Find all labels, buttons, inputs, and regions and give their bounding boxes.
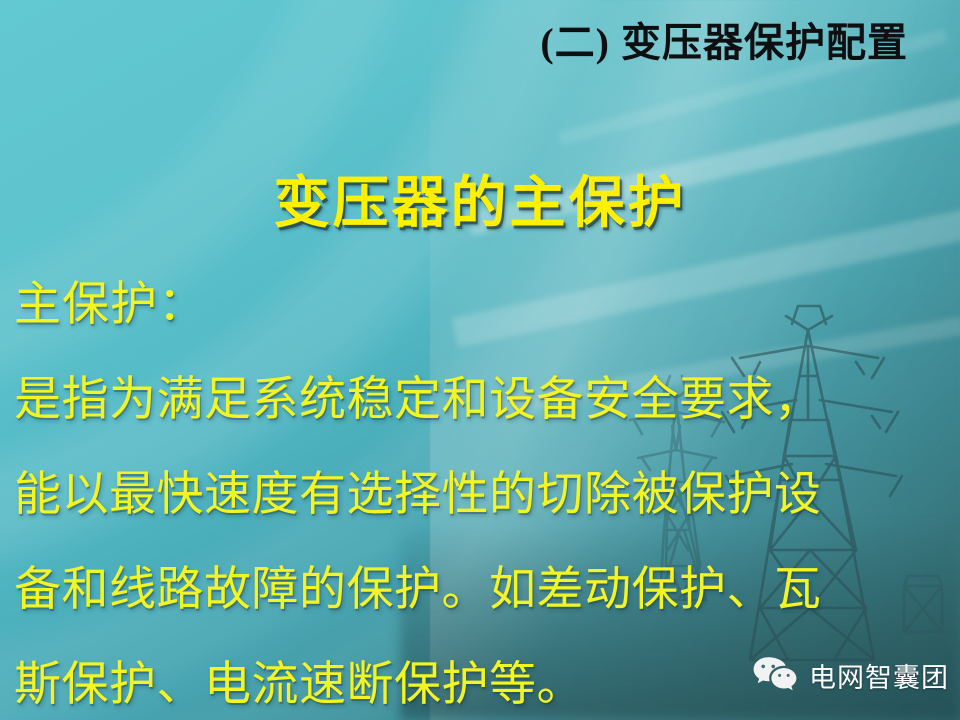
watermark-label: 电网智囊团 bbox=[809, 656, 949, 695]
body-line: 主保护： bbox=[14, 258, 944, 353]
slide-main-title: 变压器的主保护 bbox=[0, 158, 960, 239]
body-line: 是指为满足系统稳定和设备安全要求， bbox=[14, 353, 944, 448]
body-line: 备和线路故障的保护。如差动保护、瓦 bbox=[14, 543, 944, 638]
slide-body: 主保护： 是指为满足系统稳定和设备安全要求， 能以最快速度有选择性的切除被保护设… bbox=[14, 258, 944, 720]
slide-header-title: (二) 变压器保护配置 bbox=[0, 10, 908, 68]
body-line: 能以最快速度有选择性的切除被保护设 bbox=[14, 448, 944, 543]
wechat-icon bbox=[752, 655, 798, 695]
watermark: 电网智囊团 bbox=[752, 655, 949, 695]
slide-canvas: (二) 变压器保护配置 变压器的主保护 主保护： 是指为满足系统稳定和设备安全要… bbox=[0, 0, 960, 720]
